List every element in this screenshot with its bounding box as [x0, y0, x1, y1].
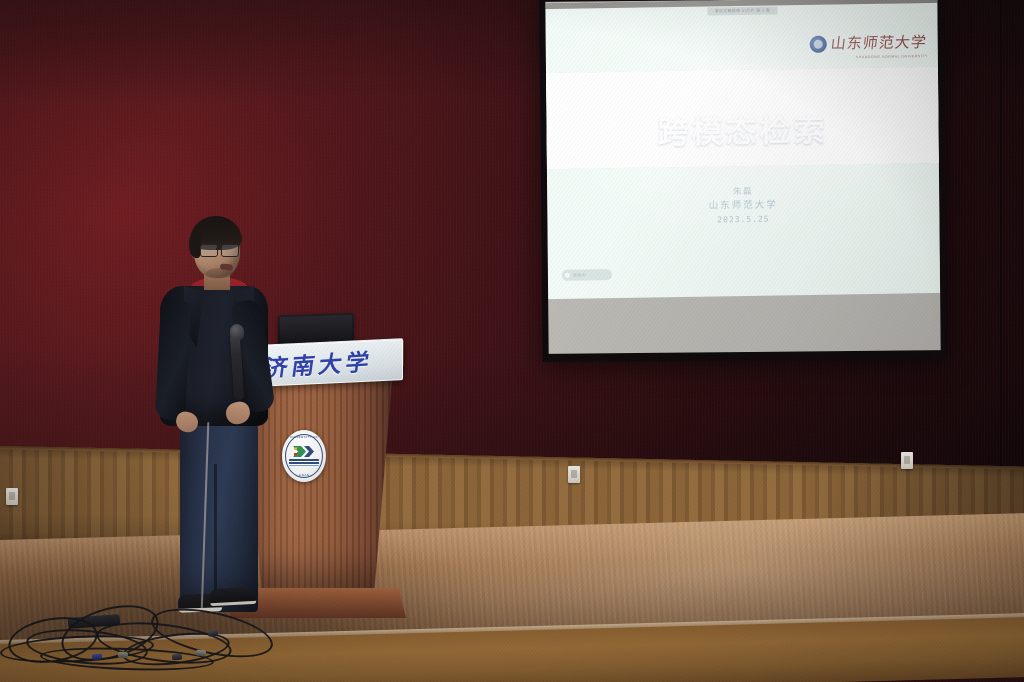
cable-plug	[196, 649, 207, 656]
microphone-capsule-icon	[229, 324, 244, 341]
wall-outlet-icon	[568, 466, 580, 483]
podium-nameplate-text: 济南大学	[262, 342, 375, 383]
slide-title: 跨模态检索	[546, 103, 938, 154]
slide-header-chip: 演示文稿放映 幻灯片 第 1 张	[707, 6, 777, 15]
slide-status-label: 放映中	[573, 272, 586, 278]
photo-scene: 演示文稿放映 幻灯片 第 1 张 山东师范大学 SHANDONG NORMAL …	[0, 0, 1024, 682]
cable-plug	[92, 653, 103, 660]
slide-presenter-block: 朱磊 山东师范大学 2023.5.25	[547, 183, 939, 229]
cable-plug	[118, 652, 128, 659]
glasses-lens-right	[221, 244, 239, 257]
emblem-top-text: UNIVERSITY OF	[282, 435, 326, 439]
slide-status-chip: 放映中	[562, 269, 612, 281]
speaker-trousers	[180, 414, 258, 612]
podium-emblem-icon: UNIVERSITY OF JINAN	[282, 430, 326, 482]
wall-outlet-icon	[6, 488, 18, 505]
university-emblem-icon	[810, 35, 827, 52]
university-logo-text: 山东师范大学	[830, 35, 928, 52]
university-logo-subtext: SHANDONG NORMAL UNIVERSITY	[856, 54, 928, 59]
status-dot-icon	[565, 273, 570, 278]
presentation-slide: 演示文稿放映 幻灯片 第 1 张 山东师范大学 SHANDONG NORMAL …	[545, 0, 940, 299]
speaker-mouth	[220, 263, 234, 270]
slide-title-band: B·8 跨模态检索	[546, 67, 939, 169]
university-logo: 山东师范大学 SHANDONG NORMAL UNIVERSITY	[810, 27, 930, 59]
glasses-icon	[200, 244, 240, 256]
jacket-sleeve-left	[155, 299, 191, 420]
trouser-seam	[214, 464, 217, 604]
emblem-bottom-text: JINAN	[282, 473, 326, 477]
floor-cables	[0, 600, 280, 682]
emblem-wave-bars	[289, 459, 319, 466]
glasses-lens-left	[200, 244, 218, 257]
screen-surface: 演示文稿放映 幻灯片 第 1 张 山东师范大学 SHANDONG NORMAL …	[545, 0, 940, 354]
emblem-chevron-icon	[292, 445, 316, 458]
cable-plug	[172, 654, 182, 661]
wall-outlet-icon	[901, 452, 913, 469]
projection-screen: 演示文稿放映 幻灯片 第 1 张 山东师范大学 SHANDONG NORMAL …	[539, 0, 946, 362]
speaker	[148, 216, 278, 626]
